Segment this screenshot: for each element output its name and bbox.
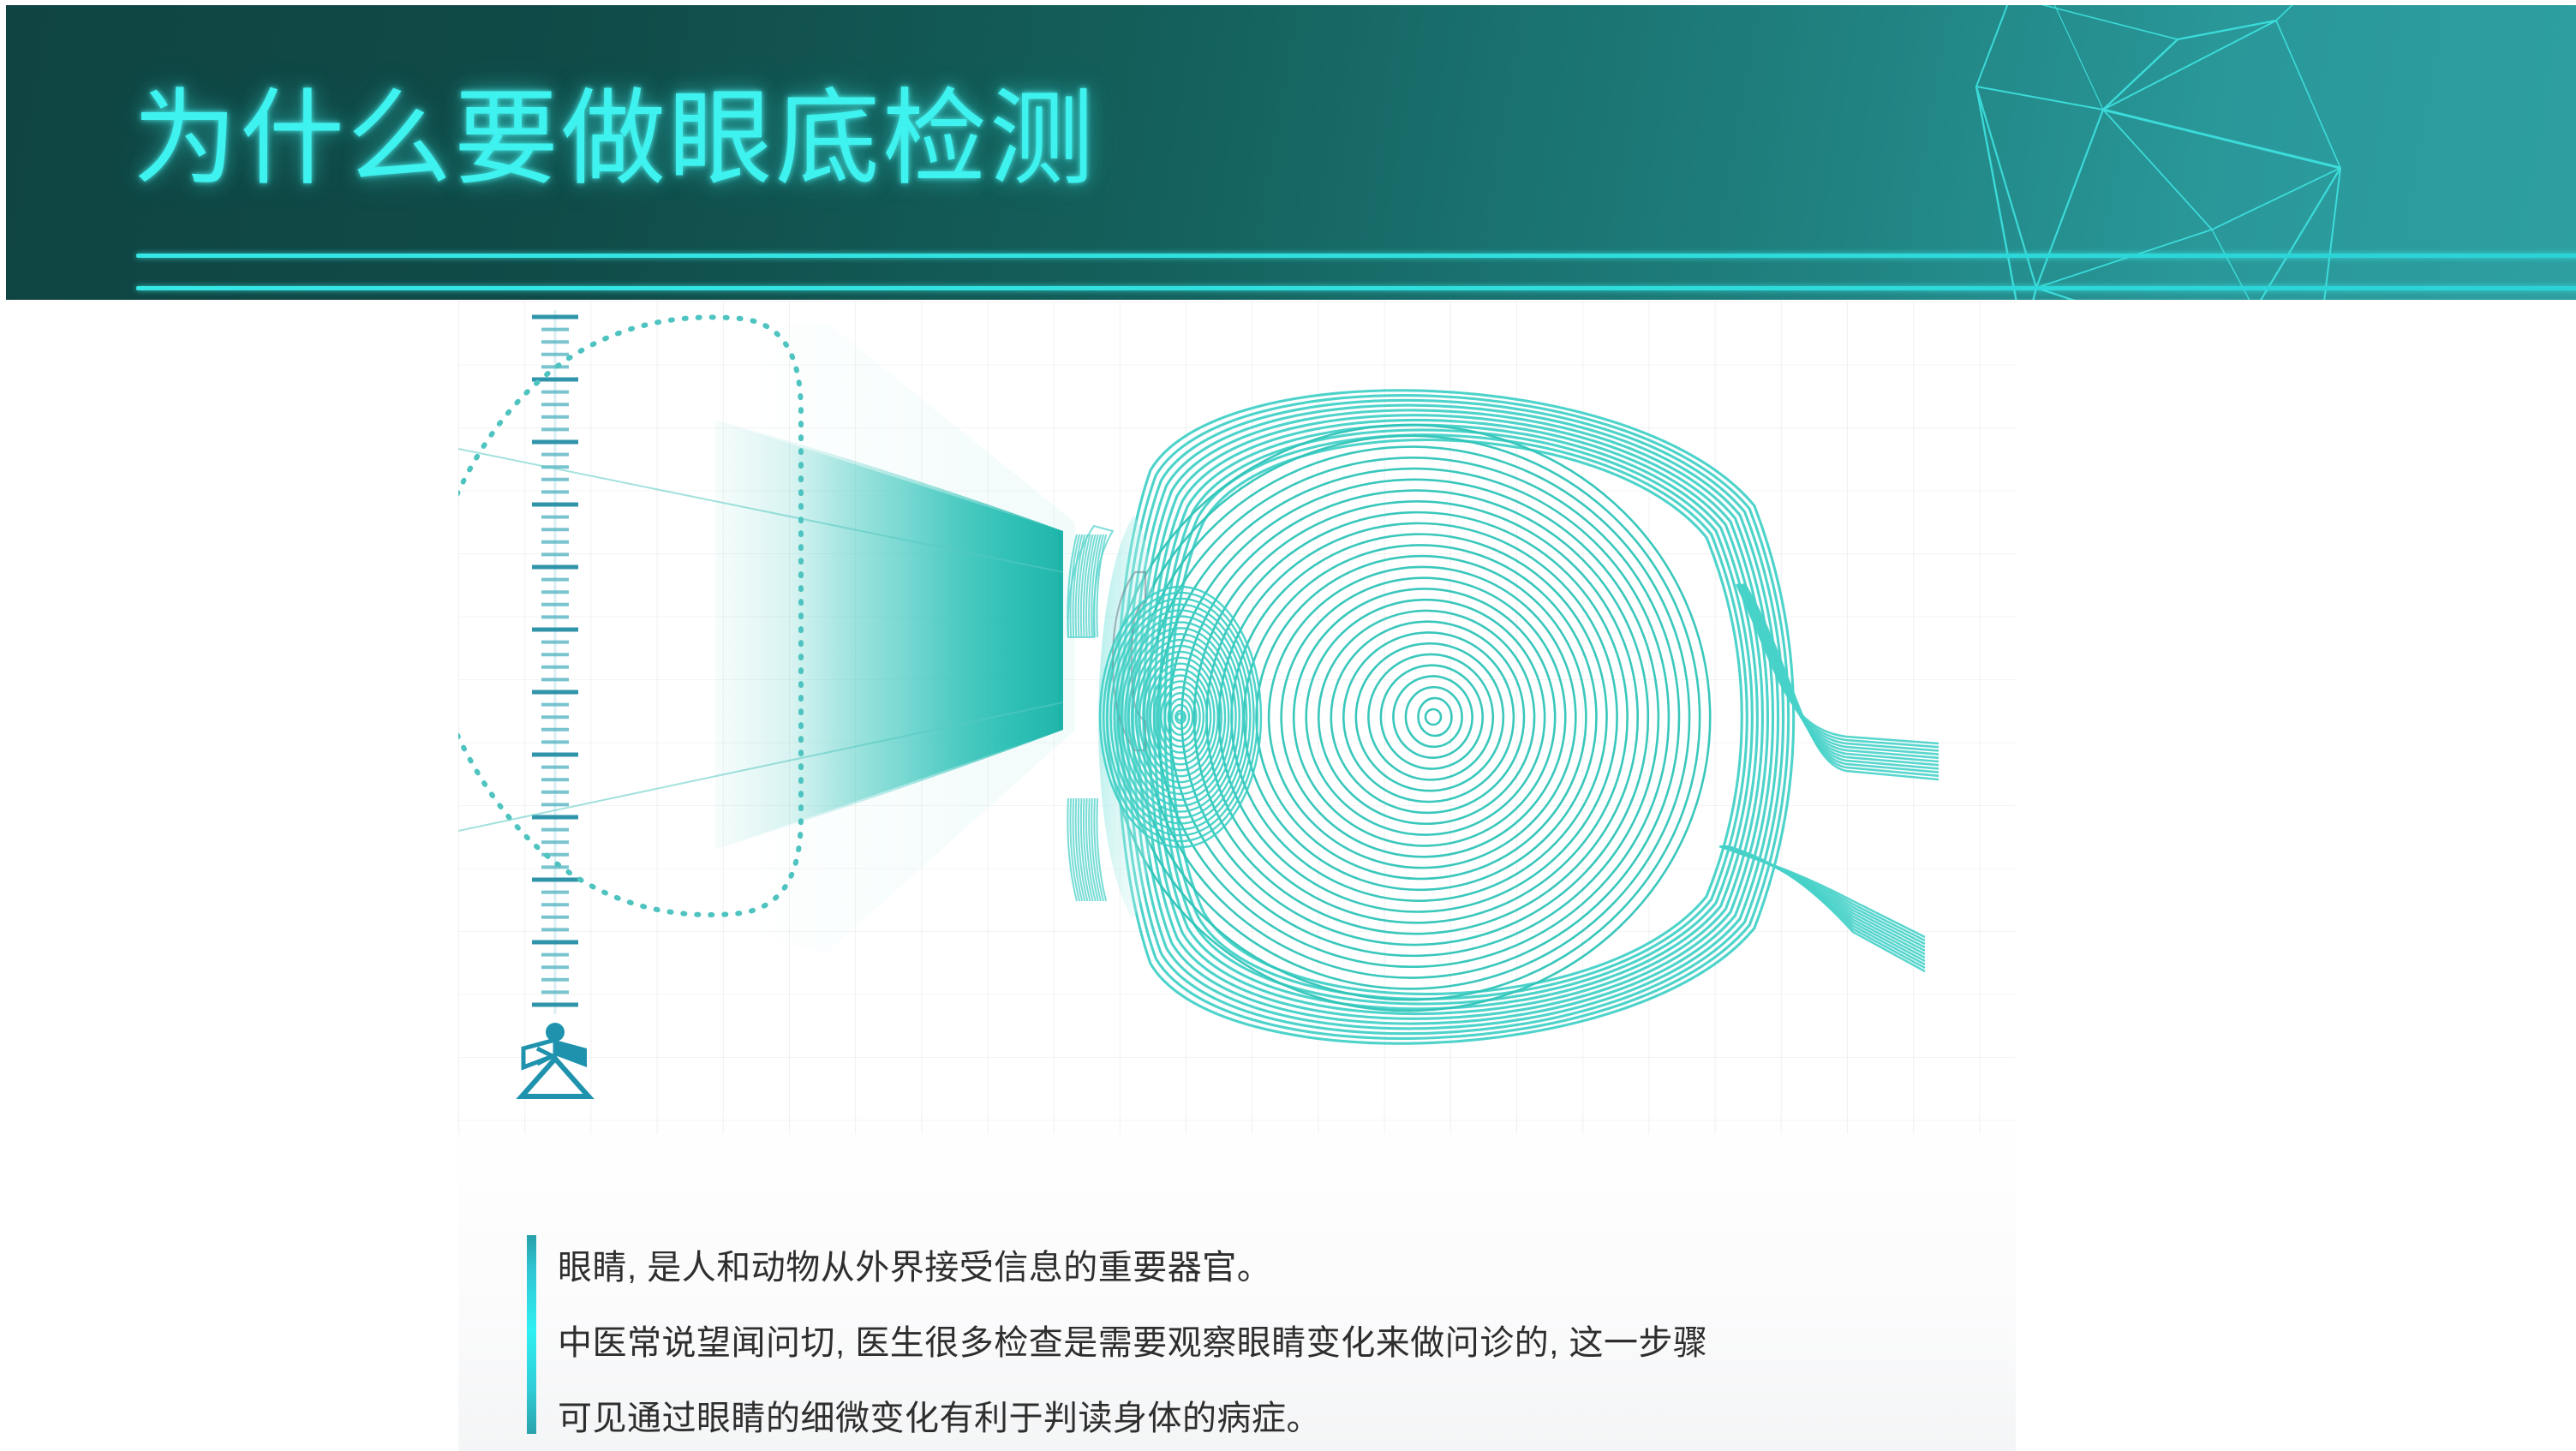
body-line-3: 可见通过眼睛的细微变化有利于判读身体的病症。	[558, 1381, 1980, 1451]
header-band: 为什么要做眼底检测	[6, 5, 2576, 300]
body-line-2: 中医常说望闻问切, 医生很多检查是需要观察眼睛变化来做问诊的, 这一步骤	[558, 1305, 1980, 1381]
title-rule-top	[136, 254, 2576, 258]
page-title: 为什么要做眼底检测	[133, 84, 1097, 194]
body-line-1: 眼睛, 是人和动物从外界接受信息的重要器官。	[558, 1230, 1980, 1305]
title-rule-bottom	[136, 286, 2576, 290]
accent-bar	[527, 1235, 536, 1434]
body-lines: 眼睛, 是人和动物从外界接受信息的重要器官。 中医常说望闻问切, 医生很多检查是…	[558, 1230, 1980, 1451]
slide-root: 为什么要做眼底检测	[0, 0, 2576, 1451]
background-grid	[458, 302, 2016, 1134]
